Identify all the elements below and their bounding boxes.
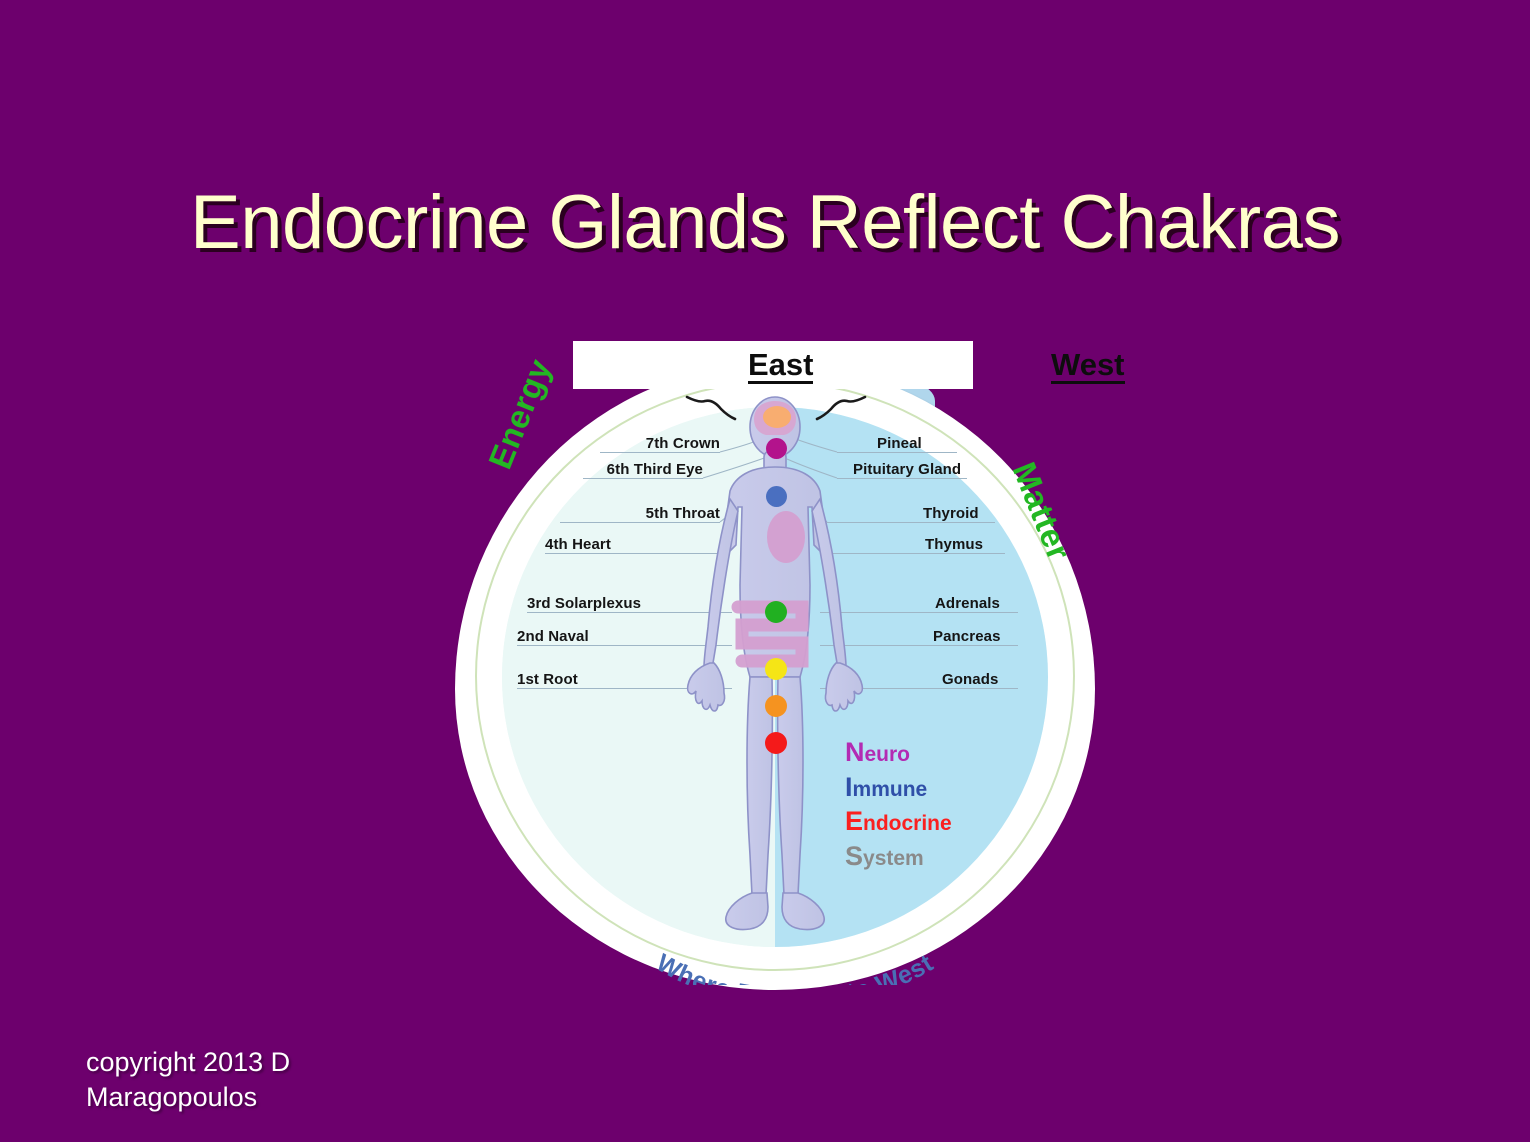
- nies-cap-e: E: [845, 806, 863, 836]
- east-west-pointer-lines: [455, 375, 1095, 495]
- gland-label-pancreas: Pancreas: [933, 628, 1033, 645]
- chakra-label-heart: 4th Heart: [545, 536, 657, 553]
- nies-cap-s: S: [845, 841, 863, 871]
- solar-plexus-chakra-dot: [765, 658, 787, 680]
- page-title: Endocrine Glands Reflect Chakras: [0, 179, 1530, 266]
- gland-label-thymus: Thymus: [925, 536, 1025, 553]
- left-hand-shape: [688, 663, 725, 711]
- chakra-label-throat: 5th Throat: [560, 505, 720, 522]
- chakra-label-naval: 2nd Naval: [517, 628, 657, 645]
- svg-text:Where East meets West: Where East meets West: [652, 949, 939, 985]
- root-chakra-dot: [765, 732, 787, 754]
- heart-chakra-dot: [765, 601, 787, 623]
- chakra-label-solarplexus: 3rd Solarplexus: [527, 595, 682, 612]
- slogan-text: Where East meets West: [652, 949, 939, 985]
- nies-acronym-block: Neuro Immune Endocrine System: [845, 735, 952, 873]
- gland-label-adrenals: Adrenals: [935, 595, 1035, 612]
- nies-line-immune: Immune: [845, 770, 952, 805]
- chakra-endocrine-diagram: East West Energy Matter: [455, 335, 1095, 990]
- gland-label-gonads: Gonads: [942, 671, 1042, 688]
- left-arm-shape: [704, 499, 738, 673]
- nies-line-endocrine: Endocrine: [845, 804, 952, 839]
- right-arm-shape: [812, 499, 846, 673]
- chakra-label-root: 1st Root: [517, 671, 657, 688]
- nies-rest-endocrine: ndocrine: [863, 812, 952, 835]
- nies-cap-i: I: [845, 772, 853, 802]
- nies-rest-neuro: euro: [865, 743, 911, 766]
- heart-organ-shape: [767, 511, 805, 563]
- slogan-curved-text: Where East meets West: [585, 875, 1005, 985]
- copyright-notice: copyright 2013 D Maragopoulos: [86, 1045, 386, 1114]
- slide-canvas: Endocrine Glands Reflect Chakras copyrig…: [0, 0, 1530, 1142]
- right-hand-shape: [825, 663, 862, 711]
- nies-cap-n: N: [845, 737, 865, 767]
- nies-line-system: System: [845, 839, 952, 874]
- nies-rest-immune: mmune: [853, 778, 928, 801]
- nies-rest-system: ystem: [863, 847, 924, 870]
- naval-chakra-dot: [765, 695, 787, 717]
- nies-line-neuro: Neuro: [845, 735, 952, 770]
- gland-label-thyroid: Thyroid: [923, 505, 1023, 522]
